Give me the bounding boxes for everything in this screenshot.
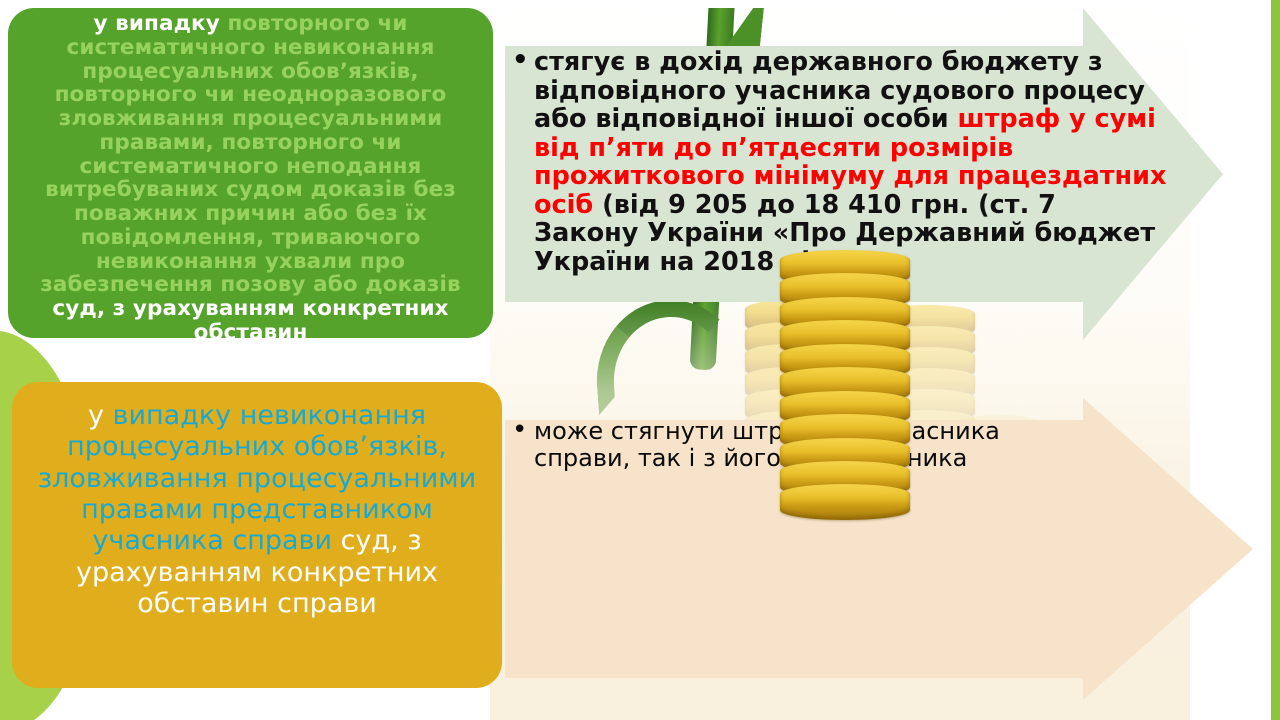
green-box-tail: суд, з урахуванням конкретних обставин	[52, 296, 448, 345]
coin-stack-main	[780, 250, 910, 520]
green-box-highlight: повторного чи систематичного невиконання…	[40, 11, 460, 297]
bullet-list-top: стягує в дохід державного бюджету з відп…	[508, 48, 1168, 276]
yellow-box-lead: у	[88, 400, 113, 431]
slide-canvas: стягує в дохід державного бюджету з відп…	[0, 0, 1280, 720]
photo-top-trim	[490, 0, 1190, 8]
right-edge-stripe	[1271, 0, 1280, 720]
green-box-lead: у випадку	[93, 11, 227, 36]
bullet-block-top: стягує в дохід державного бюджету з відп…	[508, 48, 1168, 276]
condition-box-yellow: у випадку невиконання процесуальних обов…	[12, 382, 502, 688]
condition-box-green: у випадку повторного чи систематичного н…	[8, 8, 493, 338]
list-item: стягує в дохід державного бюджету з відп…	[508, 48, 1168, 276]
coin	[780, 484, 910, 520]
